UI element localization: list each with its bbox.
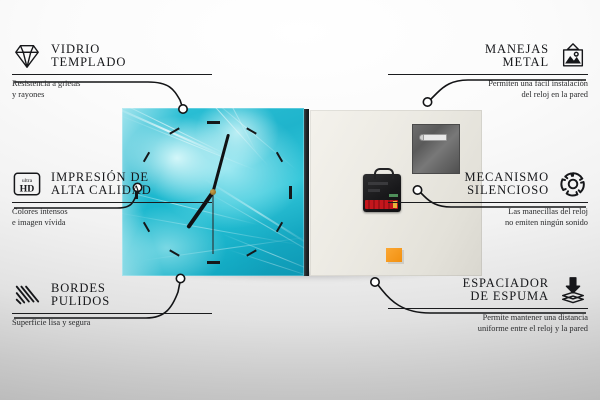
foam-spacer-icon [558,276,588,304]
mechanism-detail [368,182,388,185]
feature-header: BORDES PULIDOS [12,281,212,309]
feature-title: MECANISMO SILENCIOSO [465,171,550,198]
feature-title: MANEJAS METAL [485,43,549,70]
feature-espaciador-espuma: ESPACIADOR DE ESPUMA Permite mantener un… [388,276,588,334]
feature-description: Permite mantener una distancia uniforme … [388,313,588,334]
infographic-canvas: VIDRIO TEMPLADO Resistencia a grietas y … [0,0,600,400]
feature-title: IMPRESIÓN DE ALTA CALIDAD [51,171,152,198]
feature-divider [12,202,212,203]
feature-header: MANEJAS METAL [388,42,588,70]
ultra-hd-icon: ultra HD [12,170,42,198]
gear-icon [558,170,588,198]
feature-header: VIDRIO TEMPLADO [12,42,212,70]
feature-description: Las manecillas del reloj no emiten ningú… [388,207,588,228]
metal-hanger-plate [412,124,460,174]
feature-description: Superficie lisa y segura [12,318,212,329]
mechanism-detail [368,189,380,192]
glass-edge [304,109,309,276]
feature-manejas-metal: MANEJAS METAL Permiten una fácil instala… [388,42,588,100]
clock-tick [289,186,292,199]
feature-divider [12,74,212,75]
diamond-icon [12,42,42,70]
hanging-frame-icon [558,42,588,70]
beveled-edges-icon [12,281,42,309]
feature-mecanismo-silencioso: MECANISMO SILENCIOSO Las manecillas del … [388,170,588,228]
feature-divider [388,74,588,75]
clock-tick [207,121,220,124]
feature-title: VIDRIO TEMPLADO [51,43,126,70]
hanger-slot [423,134,447,141]
feature-divider [388,202,588,203]
feature-divider [12,313,212,314]
clock-sec-hand [213,192,214,254]
feature-description: Permiten una fácil instalación del reloj… [388,79,588,100]
feature-divider [388,308,588,309]
feature-bordes-pulidos: BORDES PULIDOS Superficie lisa y segura [12,281,212,329]
feature-description: Resistencia a grietas y rayones [12,79,212,100]
feature-title: BORDES PULIDOS [51,282,110,309]
clock-tick [207,261,220,264]
foam-spacer [386,248,402,262]
feature-header: ESPACIADOR DE ESPUMA [388,276,588,304]
feature-header: MECANISMO SILENCIOSO [388,170,588,198]
svg-text:HD: HD [20,183,35,194]
feature-header: ultra HD IMPRESIÓN DE ALTA CALIDAD [12,170,212,198]
feature-vidrio-templado: VIDRIO TEMPLADO Resistencia a grietas y … [12,42,212,100]
feature-title: ESPACIADOR DE ESPUMA [463,277,549,304]
feature-description: Colores intensos e imagen vívida [12,207,212,228]
feature-impresion-alta-calidad: ultra HD IMPRESIÓN DE ALTA CALIDAD Color… [12,170,212,228]
